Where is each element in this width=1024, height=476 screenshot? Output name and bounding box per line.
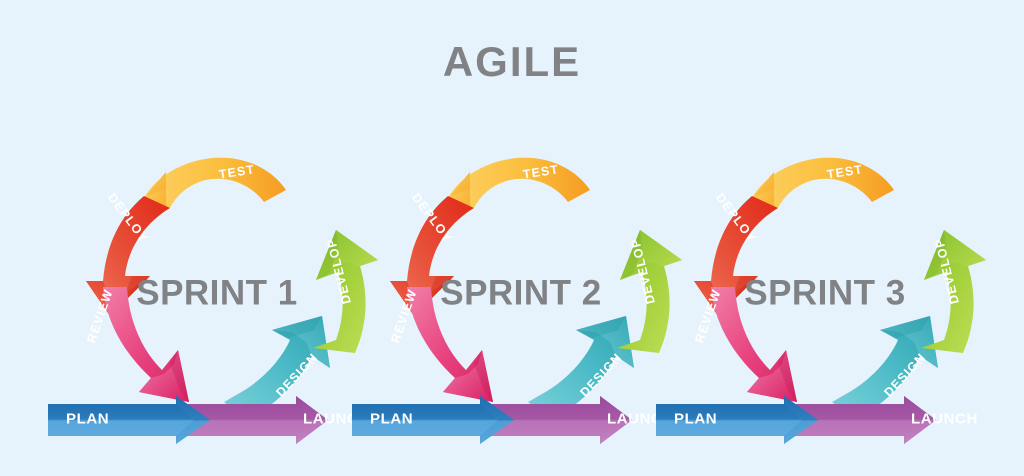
label-launch-3: LAUNCH	[911, 411, 978, 428]
label-plan-2: PLAN	[370, 411, 413, 428]
sprint-2-group: TEST DEPLOY REVIEW DESIGN DEVELOP PLAN L…	[352, 158, 682, 444]
label-plan-3: PLAN	[674, 411, 717, 428]
agile-diagram-canvas: AGILE	[0, 0, 1024, 476]
label-plan-1: PLAN	[66, 411, 109, 428]
sprint-1-group: TEST DEPLOY REVIEW DESIGN DEVELOP PLAN L…	[48, 158, 378, 444]
sprint-3-group: TEST DEPLOY REVIEW DESIGN DEVELOP PLAN L…	[656, 158, 986, 444]
sprint-3-label: SPRINT 3	[744, 274, 906, 313]
sprint-1-label: SPRINT 1	[136, 274, 298, 313]
agile-cycle-diagram: TEST DEPLOY REVIEW DESIGN DEVELOP PLAN L…	[0, 0, 1024, 476]
sprint-2-label: SPRINT 2	[440, 274, 602, 313]
